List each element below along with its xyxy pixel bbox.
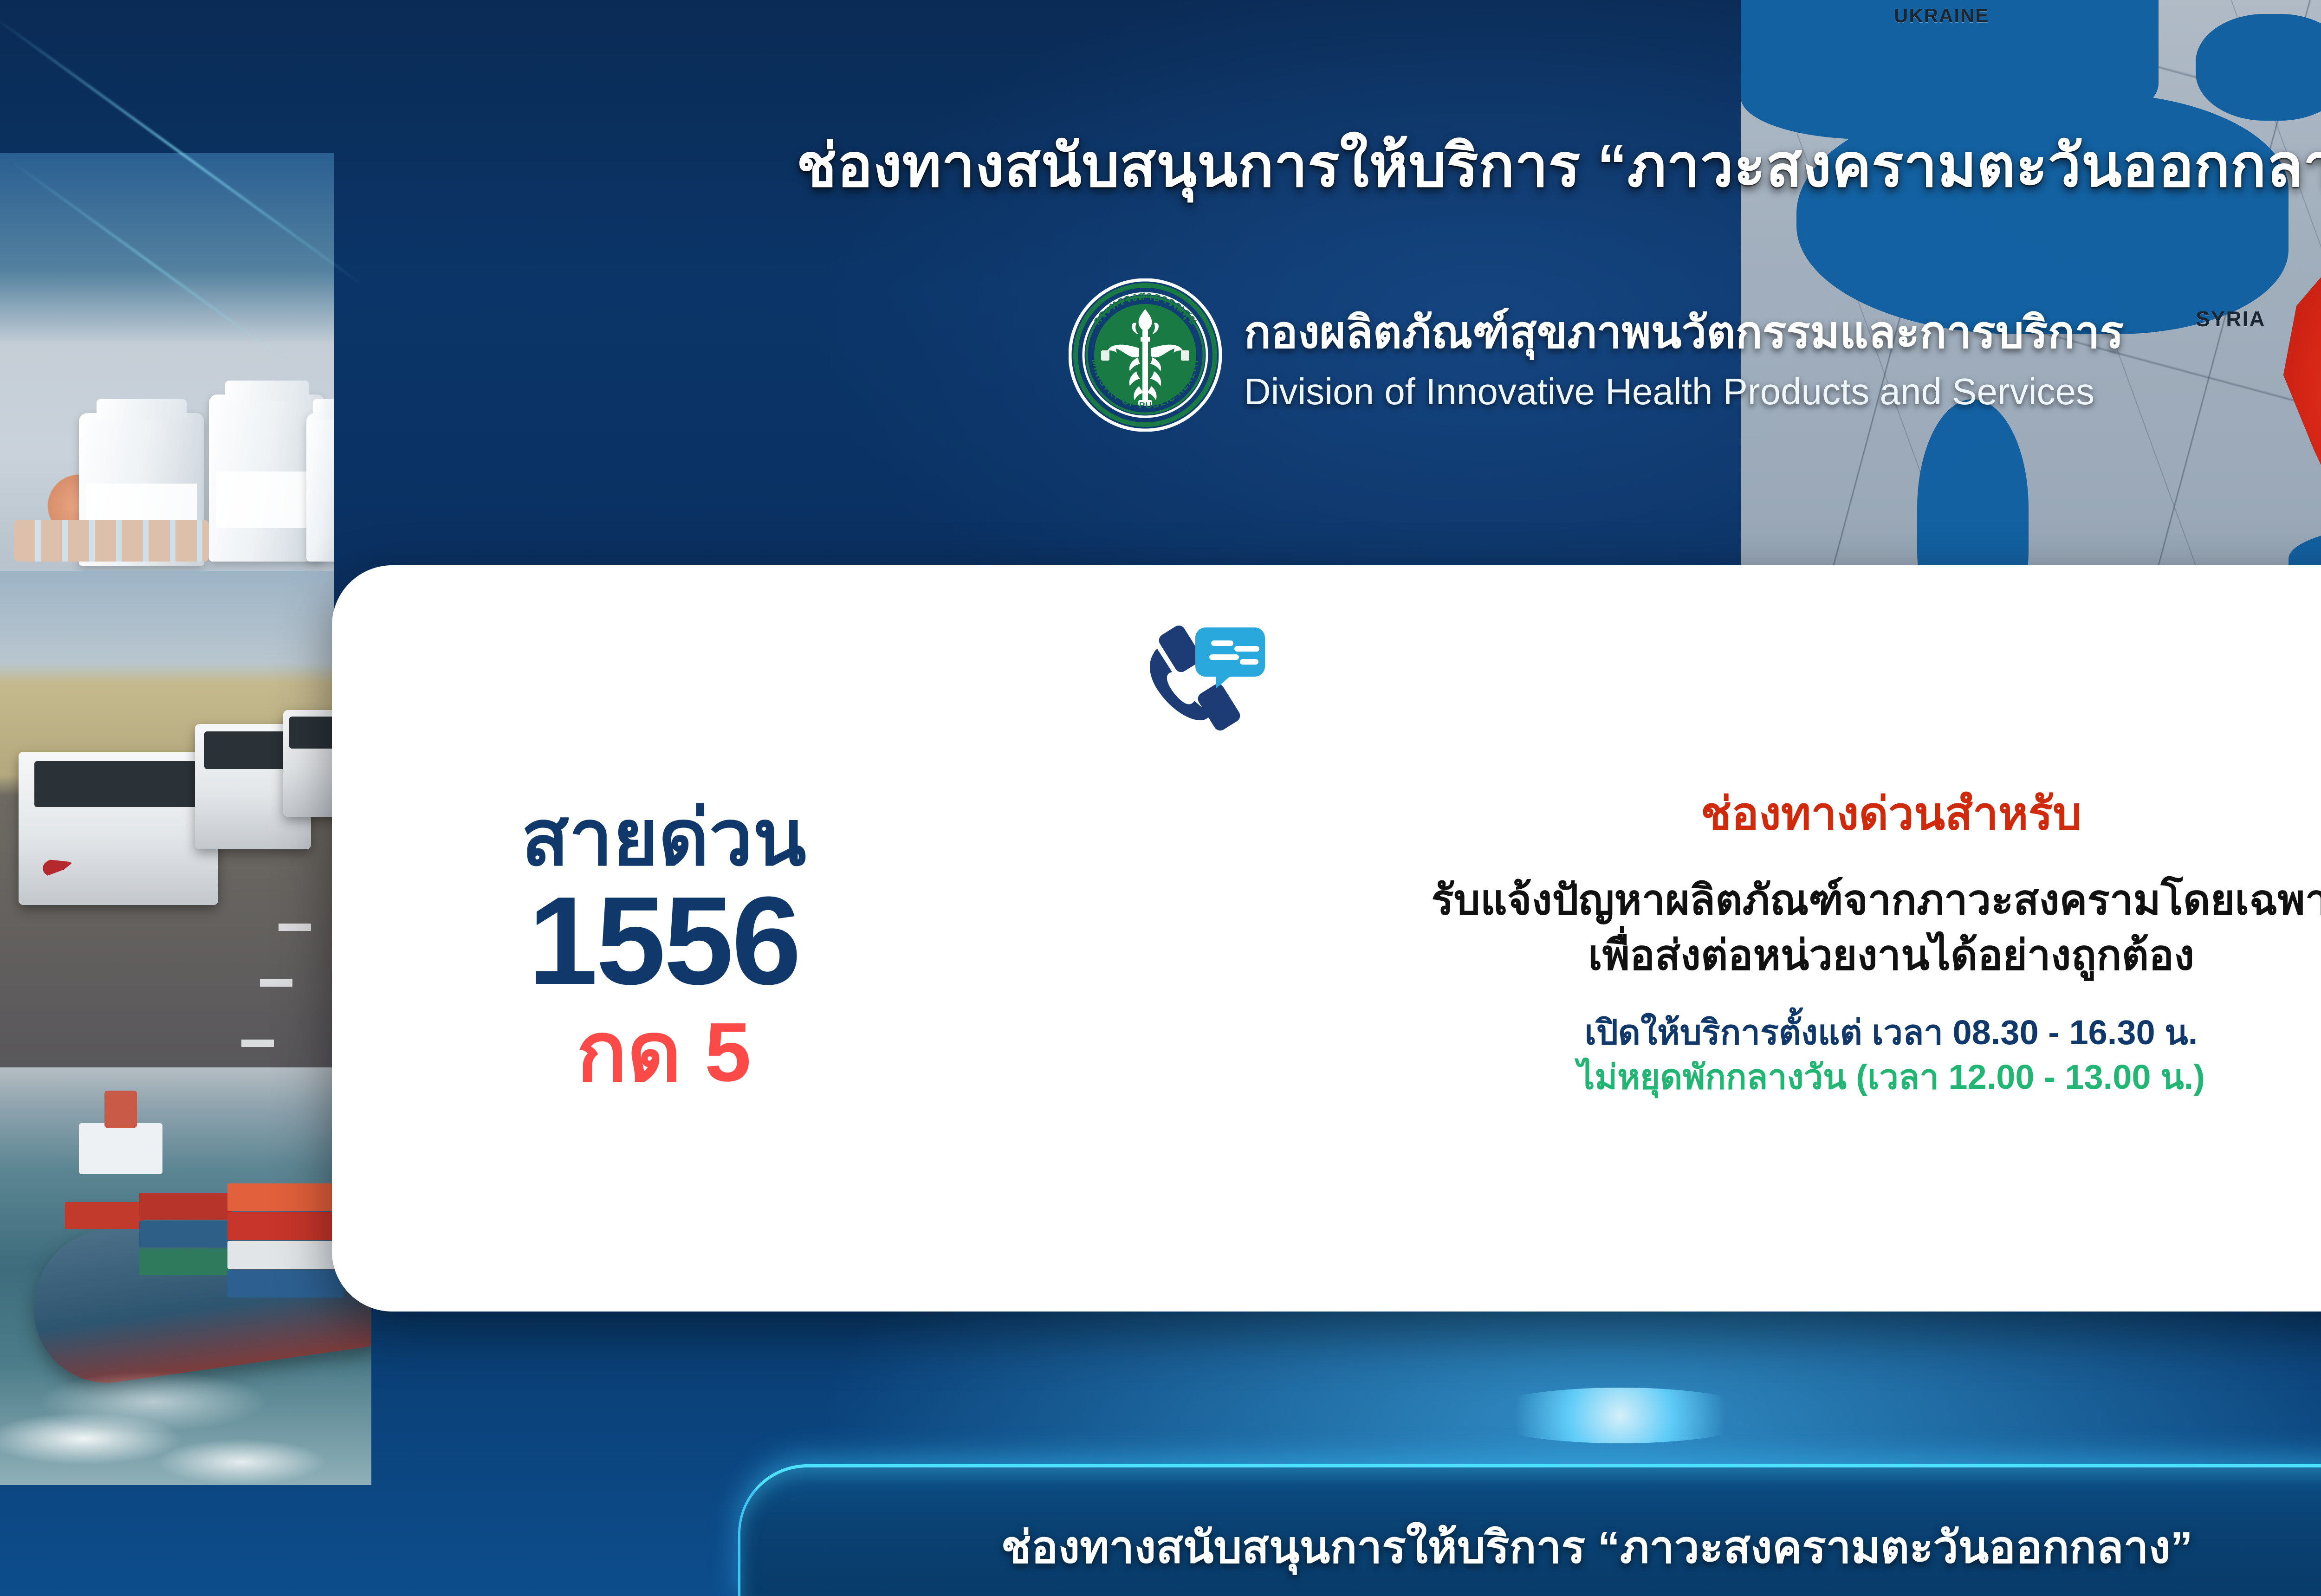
- truck-windshield: [289, 717, 334, 749]
- shipping-container: [227, 1270, 344, 1298]
- header-org-row: กระทรวงสาธารณสุข MINISTRY OF PUBLIC HEAL…: [0, 278, 2321, 432]
- road-marking: [260, 979, 292, 987]
- no-lunch-break-note: ไม่หยุดพักกลางวัน (เวลา 12.00 - 13.00 น.…: [1577, 1055, 2205, 1099]
- page-title: ช่องทางสนับสนุนการให้บริการ “ภาวะสงครามต…: [0, 118, 2321, 213]
- map-sea-caspian-north: [2196, 14, 2321, 121]
- hotline-block: สายด่วน 1556 กด 5: [332, 565, 996, 1312]
- hotline-press-extension: กด 5: [577, 1007, 751, 1098]
- details-line-1: รับแจ้งปัญหาผลิตภัณฑ์จากภาวะสงครามโดยเฉพ…: [1431, 873, 2321, 928]
- hotline-label: สายด่วน: [521, 797, 806, 879]
- hotline-card: สายด่วน 1556 กด 5: [332, 565, 2321, 1312]
- hotline-number[interactable]: 1556: [528, 879, 800, 1004]
- shipping-container: [139, 1248, 232, 1275]
- shipping-container: [139, 1221, 232, 1247]
- ministry-of-public-health-seal-icon: กระทรวงสาธารณสุข MINISTRY OF PUBLIC HEAL…: [1069, 278, 1222, 432]
- details-line-2: เพื่อส่งต่อหน่วยงานได้อย่างถูกต้อง: [1588, 928, 2194, 983]
- shipping-container: [227, 1241, 344, 1269]
- convoy-truck-front: [19, 752, 218, 905]
- org-name-thai: กองผลิตภัณฑ์สุขภาพนวัตกรรมและการบริการ: [1244, 297, 2124, 368]
- shipping-container: [227, 1212, 344, 1240]
- ship-funnel: [104, 1091, 137, 1128]
- phone-chat-icon: [1140, 617, 1265, 733]
- footer-banner: ช่องทางสนับสนุนการให้บริการ “ภาวะสงครามต…: [738, 1464, 2321, 1596]
- ship-wake-foam: [0, 1346, 371, 1485]
- shipping-container: [227, 1183, 344, 1211]
- footer-title: ช่องทางสนับสนุนการให้บริการ “ภาวะสงครามต…: [1001, 1512, 2193, 1583]
- details-headline: ช่องทางด่วนสำหรับ: [1701, 777, 2082, 850]
- aid-convoy-trucks-photo: [0, 571, 334, 1081]
- poster-canvas: UKRAINE SYRIA TURKMENISTAN AFGHANISTAN P…: [0, 0, 2321, 1596]
- org-name-english: Division of Innovative Health Products a…: [1244, 370, 2124, 413]
- hotline-details-block: ช่องทางด่วนสำหรับ รับแจ้งปัญหาผลิตภัณฑ์จ…: [996, 565, 2321, 1312]
- shipping-container: [65, 1202, 144, 1229]
- pill-blister-pack: [14, 520, 209, 562]
- service-hours: เปิดให้บริการตั้งแต่ เวลา 08.30 - 16.30 …: [1585, 1010, 2198, 1055]
- map-label-ukraine: UKRAINE: [1894, 5, 1989, 27]
- road-marking: [241, 1040, 274, 1047]
- red-crescent-emblem-icon: [43, 859, 73, 878]
- center-glow: [1476, 1388, 1764, 1443]
- convoy-truck-rear: [283, 710, 334, 817]
- shipping-container: [139, 1193, 232, 1220]
- header-org-text: กองผลิตภัณฑ์สุขภาพนวัตกรรมและการบริการ D…: [1244, 297, 2124, 413]
- road-marking: [279, 924, 311, 931]
- bottle-label: [216, 472, 318, 528]
- container-cargo-ship-photo: [0, 1067, 371, 1485]
- ship-bridge: [79, 1123, 162, 1174]
- truck-windshield: [34, 761, 202, 807]
- medicine-bottle-3: [306, 413, 334, 562]
